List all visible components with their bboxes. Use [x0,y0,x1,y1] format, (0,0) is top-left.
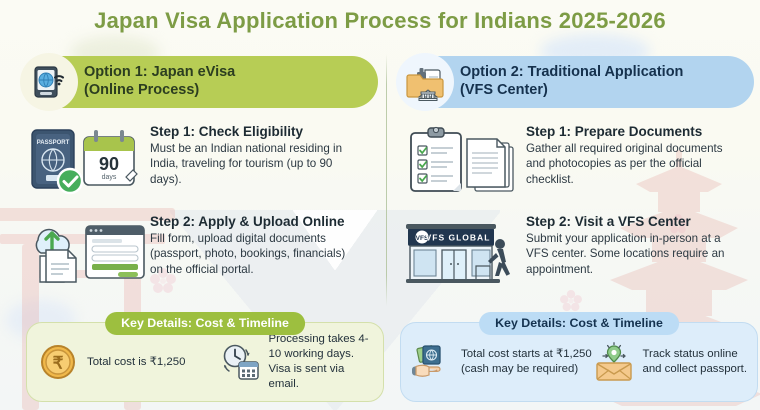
svg-text:₹: ₹ [53,354,64,373]
option1-title-line1: Option 1: Japan eVisa [84,64,235,82]
clipboard-checklist-documents-icon [403,125,521,195]
right-key-item-cost: Total cost starts at ₹1,250 (cash may be… [411,341,593,383]
infographic-canvas: Japan Visa Application Process for India… [0,0,760,410]
tablet-wifi-globe-icon [30,63,68,101]
cherry-blossom-watermark-2 [560,290,582,312]
svg-text:PASSPORT: PASSPORT [37,140,70,146]
folder-stamped-document-icon [405,63,445,101]
left-column: Option 1: Japan eVisa (Online Process) P… [22,56,378,288]
left-step-2-text: Step 2: Apply & Upload Online Fill form,… [150,212,355,277]
left-key-item-timeline: Processing takes 4-10 working days. Visa… [219,332,373,391]
option1-header-banner[interactable]: Option 1: Japan eVisa (Online Process) [22,56,378,108]
column-divider [386,54,387,306]
left-key-details-pill: Key Details: Cost & Timeline [105,312,305,335]
right-step-2-desc: Submit your application in-person at a V… [526,231,731,277]
option2-title: Option 2: Traditional Application (VFS C… [460,64,683,99]
option1-icon-badge [20,53,78,111]
left-step-1-title: Step 1: Check Eligibility [150,124,355,139]
left-step-2-art [22,212,150,288]
svg-text:days: days [102,174,117,181]
cloud-upload-form-icon [24,214,148,286]
clock-calendar-icon-wrap [219,341,261,383]
rupee-coin-icon: ₹ [39,343,77,381]
right-step-1: Step 1: Prepare Documents Gather all req… [398,122,754,198]
right-step-2-art: VFS VFS GLOBAL [398,212,526,288]
rupee-coin-icon-wrap: ₹ [37,341,79,383]
option1-title: Option 1: Japan eVisa (Online Process) [84,64,235,99]
option2-header-banner[interactable]: Option 2: Traditional Application (VFS C… [398,56,754,108]
option2-title-line1: Option 2: Traditional Application [460,64,683,82]
left-step-1: PASSPORT 90 days [22,122,378,198]
right-step-1-art [398,122,526,198]
hand-passport-cash-icon-wrap [411,341,453,383]
right-column: Option 2: Traditional Application (VFS C… [398,56,754,288]
right-step-2-text: Step 2: Visit a VFS Center Submit your a… [526,212,731,277]
clock-calendar-icon [220,342,260,382]
envelope-location-pin-icon [593,342,635,382]
left-step-1-art: PASSPORT 90 days [22,122,150,198]
left-step-1-text: Step 1: Check Eligibility Must be an Ind… [150,122,355,187]
right-step-2: VFS VFS GLOBAL [398,212,754,288]
hand-passport-cash-icon [410,342,454,382]
vfs-global-storefront-icon: VFS VFS GLOBAL [400,214,524,286]
passport-check-calendar-90days-icon: PASSPORT 90 days [26,125,146,195]
svg-text:90: 90 [99,154,119,174]
left-step-2: Step 2: Apply & Upload Online Fill form,… [22,212,378,288]
right-key-item-cost-text: Total cost starts at ₹1,250 (cash may be… [461,347,593,377]
left-step-2-desc: Fill form, upload digital documents (pas… [150,231,355,277]
option2-icon-badge [396,53,454,111]
right-key-item-track-text: Track status online and collect passport… [643,347,747,377]
right-key-details-pill: Key Details: Cost & Timeline [479,312,679,335]
right-step-1-text: Step 1: Prepare Documents Gather all req… [526,122,731,187]
left-step-2-title: Step 2: Apply & Upload Online [150,214,355,229]
page-title: Japan Visa Application Process for India… [0,8,760,34]
right-step-2-title: Step 2: Visit a VFS Center [526,214,731,229]
option1-title-line2: (Online Process) [84,82,235,100]
left-step-1-desc: Must be an Indian national residing in I… [150,141,355,187]
right-key-item-track: Track status online and collect passport… [593,341,747,383]
svg-text:VFS GLOBAL: VFS GLOBAL [426,233,491,243]
envelope-location-pin-icon-wrap [593,341,635,383]
right-step-1-title: Step 1: Prepare Documents [526,124,731,139]
left-key-item-cost-text: Total cost is ₹1,250 [87,355,185,370]
left-key-item-timeline-text: Processing takes 4-10 working days. Visa… [269,332,373,391]
right-step-1-desc: Gather all required original documents a… [526,141,731,187]
option2-title-line2: (VFS Center) [460,82,683,100]
left-key-item-cost: ₹ Total cost is ₹1,250 [37,341,219,383]
